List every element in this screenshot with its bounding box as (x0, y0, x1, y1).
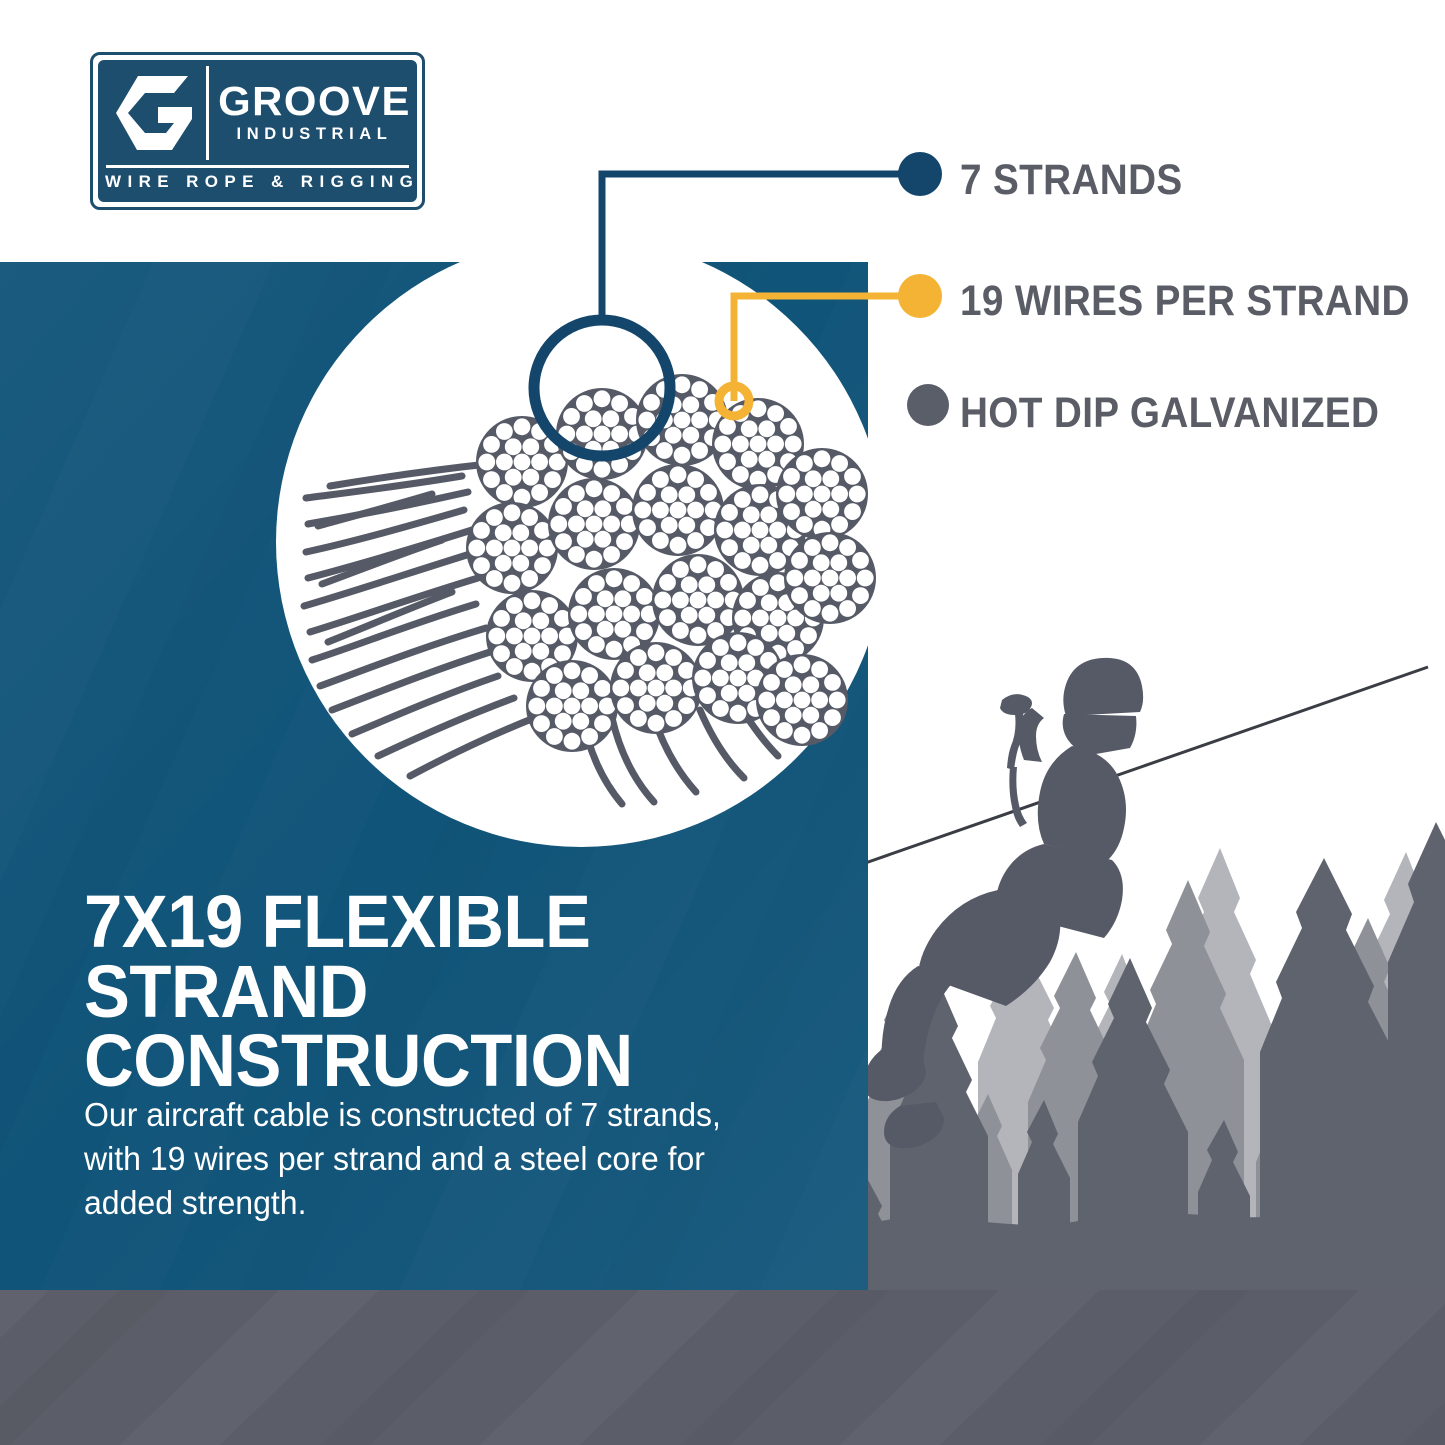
logo-inner-plate: GROOVE INDUSTRIAL WIRE ROPE & RIGGING (98, 60, 417, 202)
groove-g-icon (105, 66, 209, 160)
logo-brand-sub: INDUSTRIAL (237, 125, 393, 144)
band-stripe-texture (0, 1290, 1445, 1445)
logo-brand-name: GROOVE (218, 82, 411, 121)
page-title: 7X19 FLEXIBLE STRAND CONSTRUCTION (84, 887, 791, 1096)
infographic-canvas: 7 STRANDS 19 WIRES PER STRAND HOT DIP GA… (0, 0, 1445, 1445)
logo-wordmark: GROOVE INDUSTRIAL (209, 66, 410, 160)
bottom-gray-band (0, 1290, 1445, 1445)
callout-label-strands: 7 STRANDS (960, 156, 1183, 205)
body-paragraph: Our aircraft cable is constructed of 7 s… (84, 1093, 724, 1225)
brand-logo[interactable]: GROOVE INDUSTRIAL WIRE ROPE & RIGGING (90, 52, 425, 210)
callout-dot-wires (898, 274, 942, 318)
connector-line-wires (734, 296, 915, 401)
callout-dot-galvanized (907, 384, 949, 426)
callout-label-galvanized: HOT DIP GALVANIZED (960, 389, 1379, 438)
logo-tagline: WIRE ROPE & RIGGING (105, 172, 410, 196)
callout-label-wires: 19 WIRES PER STRAND (960, 277, 1410, 326)
callout-dot-strands (898, 152, 942, 196)
logo-divider (106, 165, 409, 168)
logo-top-row: GROOVE INDUSTRIAL (105, 66, 410, 160)
headline-line-2: STRAND CONSTRUCTION (84, 957, 791, 1096)
